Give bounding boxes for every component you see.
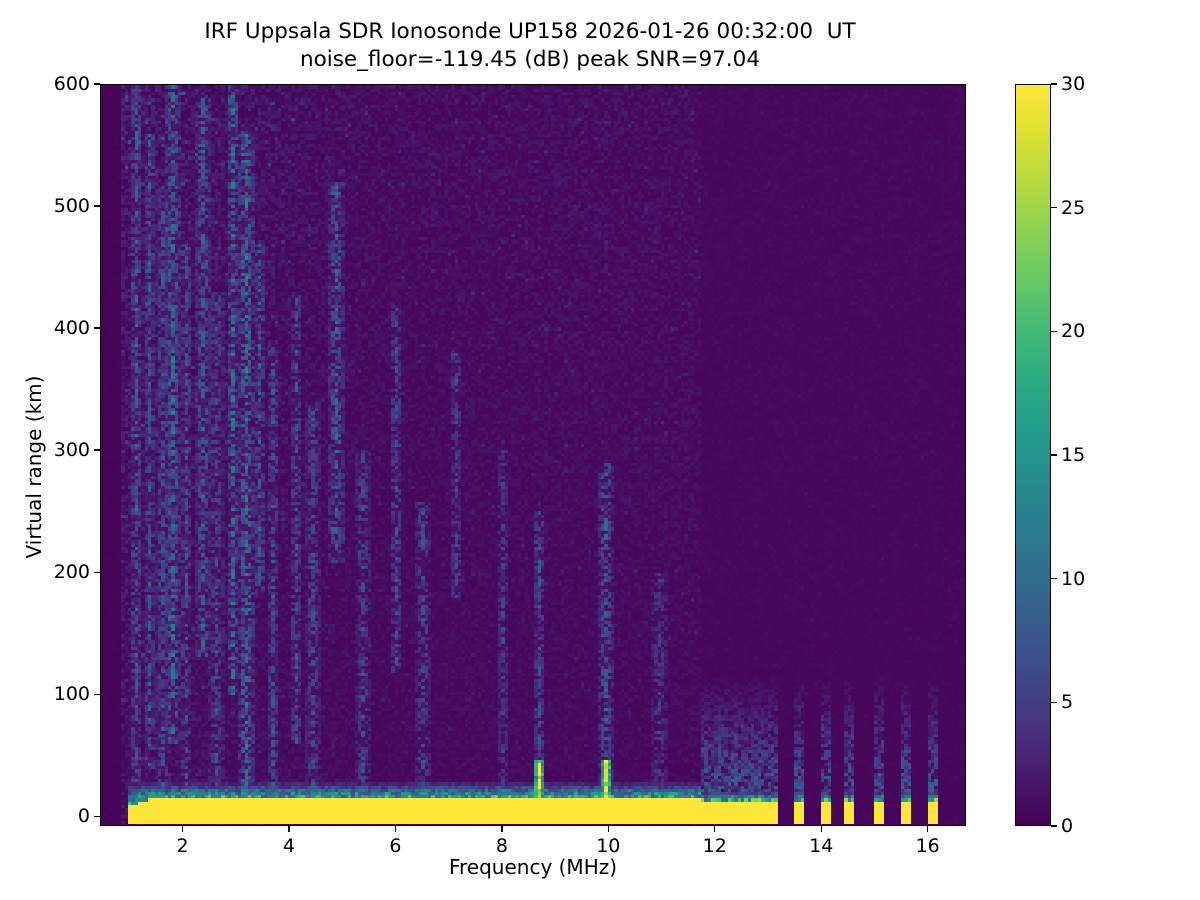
x-tick-label: 12 [703, 835, 727, 857]
y-tick-label: 200 [4, 561, 90, 583]
colorbar-tick-label: 0 [1061, 815, 1073, 837]
y-tick-mark [94, 572, 100, 573]
x-tick-label: 8 [496, 835, 508, 857]
colorbar-tick-label: 10 [1061, 568, 1085, 590]
y-tick-mark [94, 694, 100, 695]
ionogram-heatmap-canvas[interactable] [101, 85, 966, 826]
y-tick-mark [94, 816, 100, 817]
colorbar[interactable] [1015, 84, 1051, 826]
x-tick-label: 4 [283, 835, 295, 857]
colorbar-tick-mark [1051, 331, 1057, 332]
x-tick-label: 16 [916, 835, 940, 857]
y-tick-label: 500 [4, 195, 90, 217]
x-tick-mark [182, 826, 183, 832]
x-tick-mark [927, 826, 928, 832]
x-tick-mark [714, 826, 715, 832]
title-line-1: IRF Uppsala SDR Ionosonde UP158 2026-01-… [0, 18, 1060, 46]
colorbar-tick-mark [1051, 83, 1057, 84]
colorbar-tick-mark [1051, 454, 1057, 455]
y-tick-mark [94, 327, 100, 328]
y-tick-mark [94, 205, 100, 206]
x-tick-label: 2 [176, 835, 188, 857]
y-tick-label: 300 [4, 439, 90, 461]
y-axis-label: Virtual range (km) [22, 96, 46, 838]
colorbar-tick-label: 30 [1061, 73, 1085, 95]
y-tick-label: 600 [4, 73, 90, 95]
ionogram-plot-area[interactable] [100, 84, 966, 826]
y-tick-label: 100 [4, 683, 90, 705]
y-tick-mark [94, 449, 100, 450]
colorbar-tick-mark [1051, 578, 1057, 579]
x-tick-label: 14 [809, 835, 833, 857]
y-tick-label: 400 [4, 317, 90, 339]
title-line-2: noise_floor=-119.45 (dB) peak SNR=97.04 [0, 46, 1060, 74]
y-tick-mark [94, 83, 100, 84]
y-tick-label: 0 [4, 805, 90, 827]
colorbar-tick-label: 25 [1061, 197, 1085, 219]
colorbar-tick-label: 15 [1061, 444, 1085, 466]
x-tick-label: 6 [389, 835, 401, 857]
colorbar-tick-label: 5 [1061, 691, 1073, 713]
colorbar-tick-mark [1051, 825, 1057, 826]
x-tick-mark [608, 826, 609, 832]
x-tick-mark [821, 826, 822, 832]
colorbar-tick-mark [1051, 702, 1057, 703]
figure-title: IRF Uppsala SDR Ionosonde UP158 2026-01-… [0, 18, 1060, 74]
x-tick-mark [288, 826, 289, 832]
x-tick-mark [501, 826, 502, 832]
x-axis-label: Frequency (MHz) [100, 855, 966, 879]
colorbar-tick-mark [1051, 207, 1057, 208]
ionogram-figure: IRF Uppsala SDR Ionosonde UP158 2026-01-… [0, 0, 1200, 900]
x-tick-mark [395, 826, 396, 832]
colorbar-gradient [1016, 85, 1050, 825]
x-tick-label: 10 [596, 835, 620, 857]
colorbar-tick-label: 20 [1061, 320, 1085, 342]
